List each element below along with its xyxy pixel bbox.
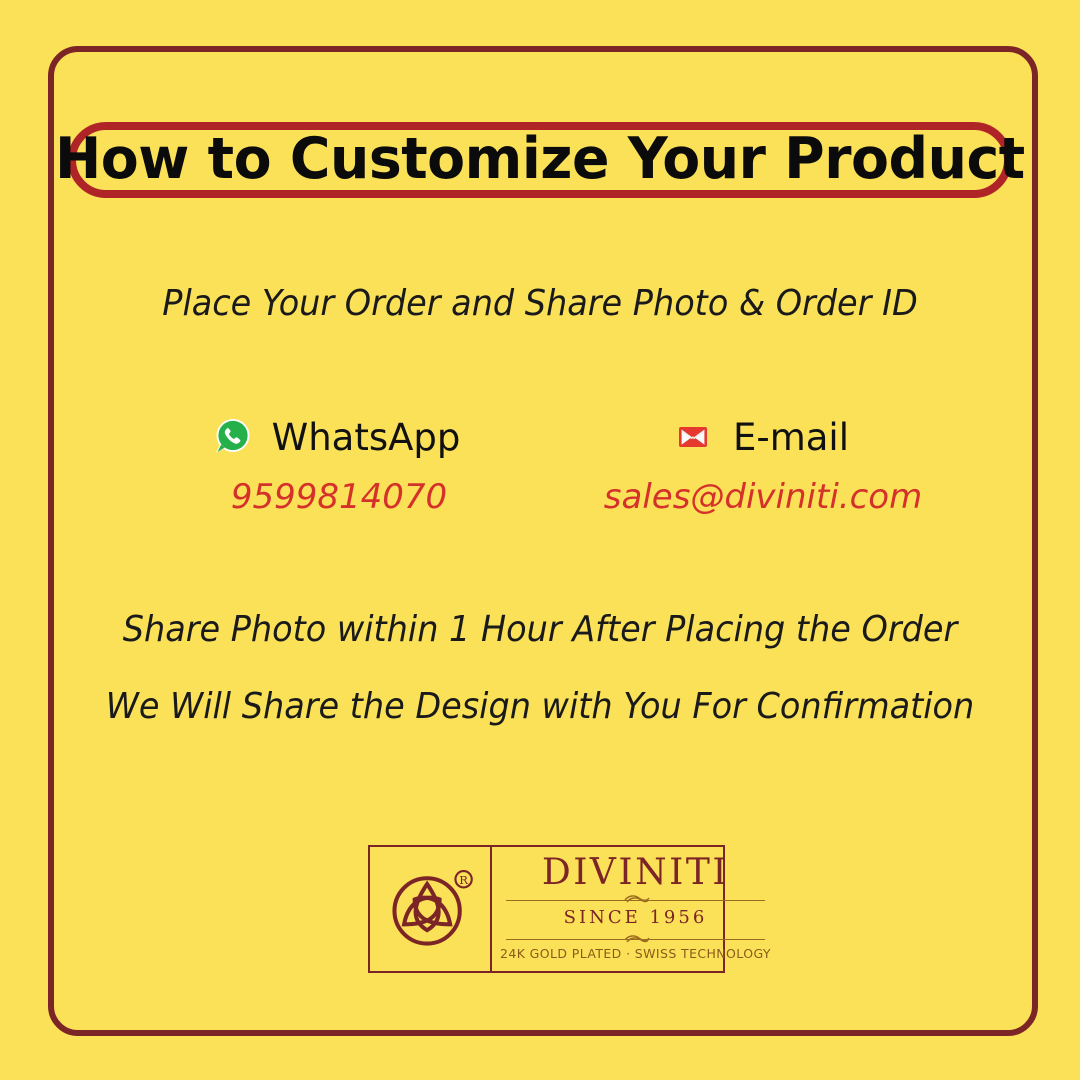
logo-mark-cell: R — [370, 847, 492, 971]
channel-email-head: E-mail — [560, 408, 960, 466]
brand-name: DIVINITI — [542, 855, 729, 891]
svg-text:R: R — [459, 873, 468, 887]
brand-since: SINCE 1956 — [500, 909, 771, 927]
brand-since-row: SINCE 1956 — [500, 900, 771, 940]
flourish-top-icon — [611, 894, 659, 906]
registered-mark-icon: R — [455, 871, 471, 887]
lead-instruction-text: Place Your Order and Share Photo & Order… — [38, 286, 1042, 322]
title-banner: How to Customize Your Product — [68, 122, 1012, 198]
whatsapp-number[interactable]: 9599814070 — [150, 480, 520, 514]
brand-logo: R DIVINITI SINCE 1956 — [368, 845, 725, 973]
whatsapp-icon — [210, 415, 254, 459]
flourish-bottom-icon — [611, 934, 659, 946]
promo-card: How to Customize Your Product Place Your… — [0, 0, 1080, 1080]
email-address[interactable]: sales@diviniti.com — [560, 480, 960, 514]
page-title: How to Customize Your Product — [55, 131, 1025, 188]
channel-email-label: E-mail — [733, 419, 849, 456]
logo-wordmark-cell: DIVINITI SINCE 1956 — [492, 847, 779, 971]
note-line-1-text: Share Photo within 1 Hour After Placing … — [38, 612, 1042, 648]
channel-email[interactable]: E-mail sales@diviniti.com — [560, 408, 960, 538]
contact-channels: WhatsApp 9599814070 E-mail sales@divinit… — [0, 408, 1080, 538]
gmail-icon — [671, 415, 715, 459]
channel-whatsapp[interactable]: WhatsApp 9599814070 — [150, 408, 520, 538]
triquetra-logo-icon: R — [382, 860, 478, 958]
brand-tagline: 24K GOLD PLATED · SWISS TECHNOLOGY — [500, 948, 771, 961]
channel-whatsapp-head: WhatsApp — [150, 408, 520, 466]
channel-whatsapp-label: WhatsApp — [272, 419, 461, 456]
note-line-2-text: We Will Share the Design with You For Co… — [38, 689, 1042, 725]
